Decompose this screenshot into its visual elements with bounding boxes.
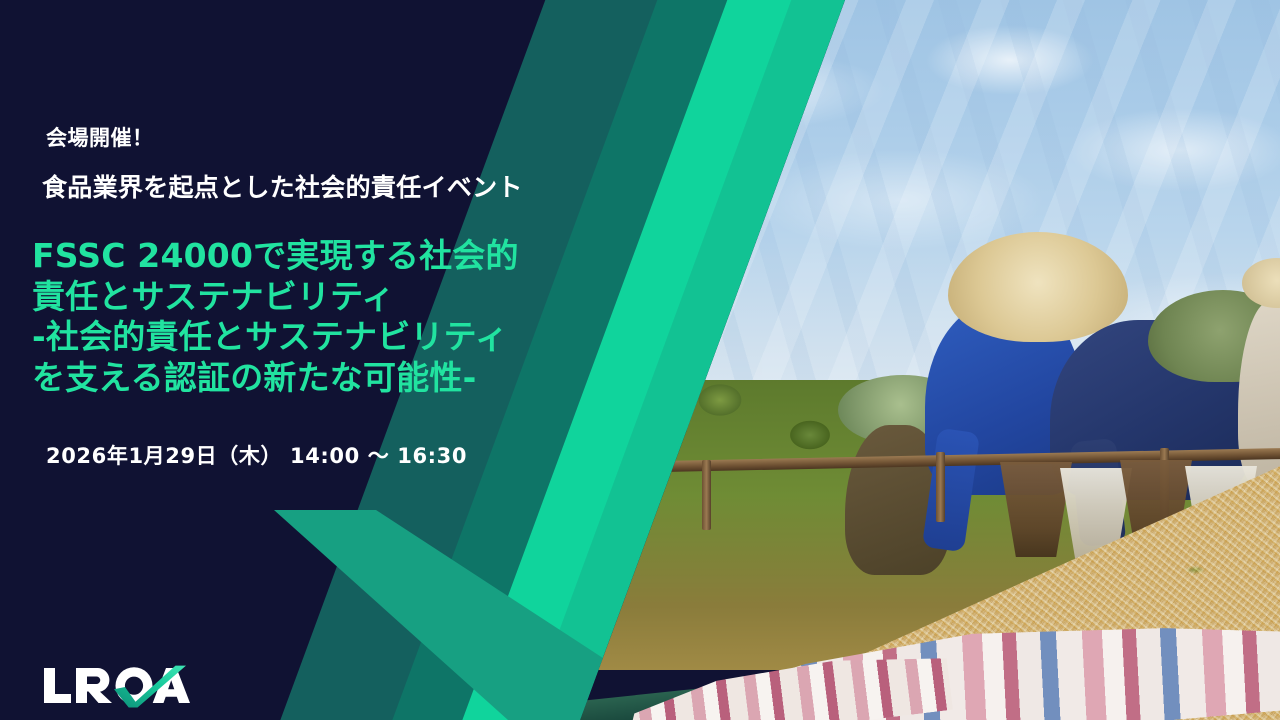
title-line-4: を支える認証の新たな可能性- bbox=[32, 358, 672, 399]
lrqa-logo bbox=[42, 662, 192, 708]
text-layer: 会場開催！ 食品業界を起点とした社会的責任イベント FSSC 24000で実現す… bbox=[0, 0, 1280, 720]
lrqa-logo-icon bbox=[42, 662, 192, 708]
event-datetime: 2026年1月29日（木） 14:00 〜 16:30 bbox=[46, 440, 467, 470]
kicker-text: 会場開催！ bbox=[46, 122, 154, 152]
title-line-1: FSSC 24000で実現する社会的 bbox=[32, 236, 672, 277]
event-title: FSSC 24000で実現する社会的 責任とサステナビリティ -社会的責任とサス… bbox=[32, 236, 672, 398]
title-line-2: 責任とサステナビリティ bbox=[32, 277, 672, 318]
title-line-3: -社会的責任とサステナビリティ bbox=[32, 317, 672, 358]
subheading-text: 食品業界を起点とした社会的責任イベント bbox=[42, 168, 523, 204]
event-banner-slide: 会場開催！ 食品業界を起点とした社会的責任イベント FSSC 24000で実現す… bbox=[0, 0, 1280, 720]
